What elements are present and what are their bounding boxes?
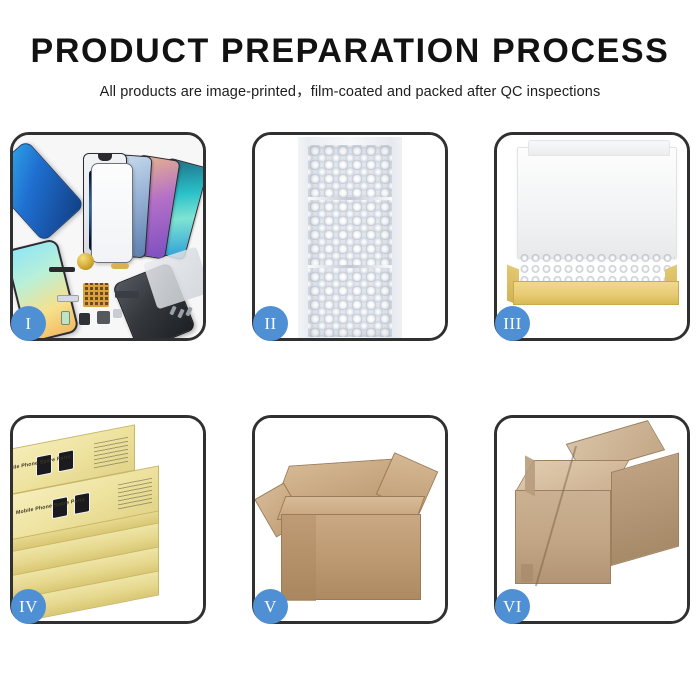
phone-fan-group bbox=[67, 145, 203, 257]
step-6-image bbox=[497, 418, 687, 621]
carton-tape-top bbox=[525, 455, 535, 496]
step-badge-1: I bbox=[11, 306, 46, 341]
white-box-lid-icon bbox=[517, 147, 677, 259]
label-text-lines bbox=[118, 478, 152, 511]
step-badge-5: V bbox=[253, 589, 288, 624]
screen-glass-icon bbox=[91, 163, 133, 263]
step-2-image bbox=[255, 135, 445, 338]
step-4-image: Mobile Phone Spare Parts Mobile Phone Sp… bbox=[13, 418, 203, 621]
connector-part-icon bbox=[57, 295, 79, 302]
ribbon-cable-icon bbox=[115, 291, 139, 298]
wrap-seam-bottom bbox=[308, 265, 392, 268]
process-step-grid: I II III bbox=[10, 132, 690, 624]
vibrator-part-icon bbox=[97, 311, 110, 324]
wrap-seam-top bbox=[308, 197, 392, 200]
carton-body-open bbox=[281, 514, 421, 600]
screws-icon bbox=[171, 306, 195, 320]
label-text-lines-2 bbox=[94, 437, 128, 470]
bubble-wrap-sheet bbox=[298, 137, 402, 338]
product-preparation-process-page: PRODUCT PREPARATION PROCESS All products… bbox=[0, 0, 700, 700]
process-step-4: Mobile Phone Spare Parts Mobile Phone Sp… bbox=[10, 415, 206, 624]
process-step-6: VI bbox=[494, 415, 690, 624]
page-title: PRODUCT PREPARATION PROCESS bbox=[0, 32, 700, 71]
carton-side-face bbox=[611, 453, 679, 566]
bracket-part-icon bbox=[113, 309, 122, 318]
step-badge-6: VI bbox=[495, 589, 530, 624]
box-stack-group: Mobile Phone Spare Parts Mobile Phone Sp… bbox=[13, 434, 203, 621]
gold-contact-icon bbox=[111, 263, 129, 269]
process-step-1: I bbox=[10, 132, 206, 341]
sim-tray-icon bbox=[61, 311, 70, 325]
step-3-image bbox=[497, 135, 687, 338]
process-step-5: V bbox=[252, 415, 448, 624]
page-subtitle: All products are image-printed，film-coat… bbox=[0, 80, 700, 101]
wrapped-contents-icon bbox=[519, 253, 675, 283]
camera-ring-icon bbox=[77, 253, 94, 270]
step-1-image bbox=[13, 135, 203, 338]
step-5-image bbox=[255, 418, 445, 621]
step-badge-4: IV bbox=[11, 589, 46, 624]
yellow-box-front-icon bbox=[513, 281, 679, 305]
flex-cable-icon bbox=[49, 267, 75, 272]
bubble-pattern-icon bbox=[308, 145, 392, 337]
speaker-part-icon bbox=[79, 313, 90, 325]
step-badge-2: II bbox=[253, 306, 288, 341]
process-step-3: III bbox=[494, 132, 690, 341]
chip-board-icon bbox=[83, 283, 109, 307]
carton-tape-bottom bbox=[521, 564, 533, 582]
step-badge-3: III bbox=[495, 306, 530, 341]
process-step-2: II bbox=[252, 132, 448, 341]
